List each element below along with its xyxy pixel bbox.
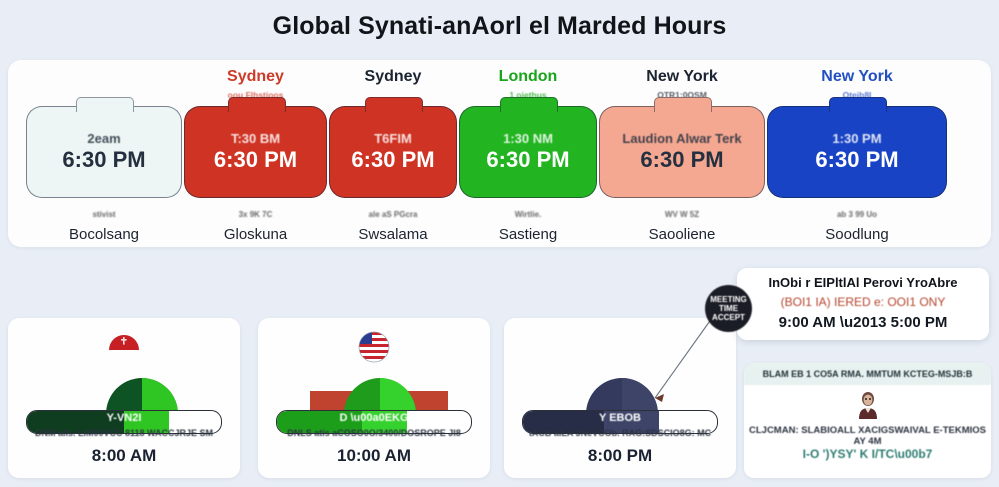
timezone-chip-tab	[228, 97, 286, 112]
timezone-time-chip[interactable]: Laudion Alwar Terk6:30 PM	[599, 106, 765, 198]
timezone-chip-tab	[654, 97, 712, 112]
timezone-time-chip[interactable]: 2eam6:30 PM	[26, 106, 182, 198]
timezone-card[interactable]: Sydneyoou FlhstioosT:30 BM6:30 PM3x 9K 7…	[178, 60, 333, 247]
timezone-card[interactable]: London1 oiethus1:30 NM6:30 PMWirtlie.Sas…	[453, 60, 603, 247]
timezone-time: 6:30 PM	[486, 147, 569, 173]
timezone-footer-small: Wirtlie.	[453, 210, 603, 219]
timezone-time: 6:30 PM	[214, 147, 297, 173]
timezone-time: 6:30 PM	[62, 147, 145, 173]
timezone-chip-tab	[829, 97, 887, 112]
timezone-city: New York	[593, 68, 771, 86]
timezone-progress-card[interactable]: Y EBOBtACB aILA JNeVCOb. RAG:SDSCIO8G: M…	[504, 318, 736, 478]
page-title: Global Synati-anAorl el Marded Hours	[0, 12, 999, 41]
flag-icon-red	[107, 330, 141, 364]
progress-card-time: 8:00 AM	[8, 446, 240, 466]
info-card-header: BLAM EB 1 CO5A RMA. MMTUM KCTEG-MSJB:B	[744, 363, 991, 385]
timezone-footer-label: Bocolsang	[20, 226, 188, 243]
timezone-progress-card[interactable]: D \u00a0EKGDNLS atis aCOSO0O/3400/DOSROP…	[258, 318, 490, 478]
meeting-window-tooltip: InObi r EIPltlAl Perovi YroAbre (BOI1 IA…	[737, 268, 989, 340]
tooltip-title: InObi r EIPltlAl Perovi YroAbre	[743, 275, 983, 290]
timezone-footer-label: Sastieng	[453, 226, 603, 243]
tooltip-subtitle: (BOI1 IA) IERED e: OOI1 ONY	[743, 295, 983, 309]
timezone-small-time: Laudion Alwar Terk	[622, 131, 741, 146]
timezone-footer-small: 3x 9K 7C	[178, 210, 333, 219]
timezone-small-time: T6FIM	[374, 131, 412, 146]
timezone-footer-small: stivist	[20, 210, 188, 219]
progress-card-subtitle: DNLS atis aCOSO0O/3400/DOSROPE JI8	[264, 428, 484, 438]
tooltip-time-range: 9:00 AM \u2013 5:00 PM	[743, 314, 983, 331]
timezone-chip-tab	[500, 97, 558, 112]
timezone-time-chip[interactable]: T6FIM6:30 PM	[329, 106, 457, 198]
progress-bar-label: D \u00a0EKG	[276, 412, 472, 424]
progress-bar[interactable]: D \u00a0EKG	[276, 390, 472, 432]
timezone-footer-label: Soodlung	[761, 226, 953, 243]
timezone-card[interactable]: New YorkOTR1:0OSMLaudion Alwar Terk6:30 …	[593, 60, 771, 247]
info-card-link[interactable]: I-O ')YSY' K I/TC\u00b7	[749, 447, 986, 461]
timezone-time-chip[interactable]: 1:30 NM6:30 PM	[459, 106, 597, 198]
timezone-small-time: 1:30 PM	[832, 131, 881, 146]
progress-bar-label: Y EBOB	[522, 412, 718, 424]
timezone-city: Sydney	[178, 68, 333, 86]
timezone-footer-label: Swsalama	[323, 226, 463, 243]
timezone-card[interactable]: 2eam6:30 PMstivistBocolsang	[20, 60, 188, 247]
timezone-time: 6:30 PM	[815, 147, 898, 173]
timezone-progress-card[interactable]: Y-VN2IDNM ails. LIM00VCC 8118 WACCJRJE S…	[8, 318, 240, 478]
timezone-small-time: 1:30 NM	[503, 131, 553, 146]
timezone-card[interactable]: New YorkOteib8l1:30 PM6:30 PMab 3 99 UoS…	[761, 60, 953, 247]
timezone-row: 2eam6:30 PMstivistBocolsangSydneyoou Flh…	[8, 60, 991, 247]
progress-bar[interactable]: Y-VN2I	[26, 390, 222, 432]
timezone-city: Sydney	[323, 68, 463, 86]
timezone-time-chip[interactable]: 1:30 PM6:30 PM	[767, 106, 947, 198]
flag-icon-usa	[357, 330, 391, 364]
timezone-time-chip[interactable]: T:30 BM6:30 PM	[184, 106, 327, 198]
progress-card-subtitle: tACB aILA JNeVCOb. RAG:SDSCIO8G: MC	[510, 428, 730, 438]
world-clock-panel: 2eam6:30 PMstivistBocolsangSydneyoou Flh…	[8, 60, 991, 247]
timezone-footer-small: ale aS PGcra	[323, 210, 463, 219]
timezone-time: 6:30 PM	[351, 147, 434, 173]
progress-card-time: 10:00 AM	[258, 446, 490, 466]
timezone-city: London	[453, 68, 603, 86]
timezone-time: 6:30 PM	[640, 147, 723, 173]
timezone-card[interactable]: SydneyT6FIM6:30 PMale aS PGcraSwsalama	[323, 60, 463, 247]
progress-bar-label: Y-VN2I	[26, 412, 222, 424]
timezone-city: New York	[761, 68, 953, 86]
timezone-footer-label: Saooliene	[593, 226, 771, 243]
progress-bar[interactable]: Y EBOB	[522, 390, 718, 432]
timezone-chip-tab	[365, 97, 423, 112]
info-card: BLAM EB 1 CO5A RMA. MMTUM KCTEG-MSJB:B C…	[744, 363, 991, 478]
info-card-text: CLJCMAN: SLABIOALL XACIGSWAIVAL E-TEKMIO…	[749, 425, 986, 447]
timezone-footer-label: Gloskuna	[178, 226, 333, 243]
timezone-footer-small: WV W 5Z	[593, 210, 771, 219]
timezone-small-time: T:30 BM	[231, 131, 280, 146]
progress-card-time: 8:00 PM	[504, 446, 736, 466]
timezone-small-time: 2eam	[87, 131, 120, 146]
timezone-footer-small: ab 3 99 Uo	[761, 210, 953, 219]
progress-card-subtitle: DNM ails. LIM00VCC 8118 WACCJRJE SM	[14, 428, 234, 438]
timezone-chip-tab	[76, 97, 134, 112]
avatar-icon	[856, 391, 880, 419]
meeting-time-badge[interactable]: MEETING TIME ACCEPT	[705, 285, 752, 332]
